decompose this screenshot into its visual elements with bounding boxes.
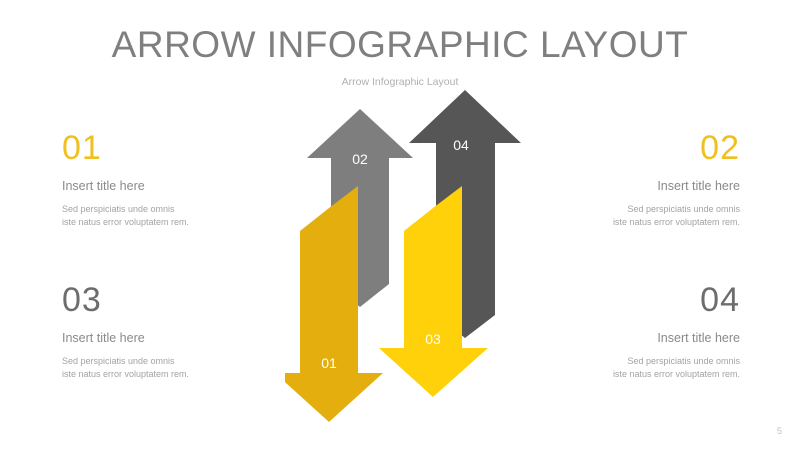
arrow-04-label: 04 xyxy=(453,137,469,153)
block-04-body: Sed perspiciatis unde omnis iste natus e… xyxy=(510,355,740,381)
page-number: 5 xyxy=(777,426,782,436)
block-03-title: Insert title here xyxy=(62,330,292,346)
arrow-03-label: 03 xyxy=(425,331,441,347)
block-01-body: Sed perspiciatis unde omnis iste natus e… xyxy=(62,203,292,229)
block-02-body-line1: Sed perspiciatis unde omnis xyxy=(510,203,740,216)
text-block-04: 04 Insert title here Sed perspiciatis un… xyxy=(510,280,740,381)
block-04-number: 04 xyxy=(510,280,740,320)
arrow-infographic: 02 04 01 03 xyxy=(285,86,535,422)
block-04-body-line1: Sed perspiciatis unde omnis xyxy=(510,355,740,368)
block-01-body-line1: Sed perspiciatis unde omnis xyxy=(62,203,292,216)
block-01-number: 01 xyxy=(62,128,292,168)
block-03-body: Sed perspiciatis unde omnis iste natus e… xyxy=(62,355,292,381)
block-01-title: Insert title here xyxy=(62,178,292,194)
text-block-02: 02 Insert title here Sed perspiciatis un… xyxy=(510,128,740,229)
page-title: ARROW INFOGRAPHIC LAYOUT xyxy=(0,24,800,66)
block-02-body-line2: iste natus error voluptatem rem. xyxy=(510,216,740,229)
block-01-body-line2: iste natus error voluptatem rem. xyxy=(62,216,292,229)
text-block-03: 03 Insert title here Sed perspiciatis un… xyxy=(62,280,292,381)
block-02-number: 02 xyxy=(510,128,740,168)
arrow-02-label: 02 xyxy=(352,151,368,167)
block-04-title: Insert title here xyxy=(510,330,740,346)
block-02-body: Sed perspiciatis unde omnis iste natus e… xyxy=(510,203,740,229)
block-03-body-line1: Sed perspiciatis unde omnis xyxy=(62,355,292,368)
block-03-body-line2: iste natus error voluptatem rem. xyxy=(62,368,292,381)
block-02-title: Insert title here xyxy=(510,178,740,194)
slide-canvas: ARROW INFOGRAPHIC LAYOUT Arrow Infograph… xyxy=(0,0,800,450)
block-04-body-line2: iste natus error voluptatem rem. xyxy=(510,368,740,381)
arrow-01-label: 01 xyxy=(321,355,337,371)
text-block-01: 01 Insert title here Sed perspiciatis un… xyxy=(62,128,292,229)
block-03-number: 03 xyxy=(62,280,292,320)
